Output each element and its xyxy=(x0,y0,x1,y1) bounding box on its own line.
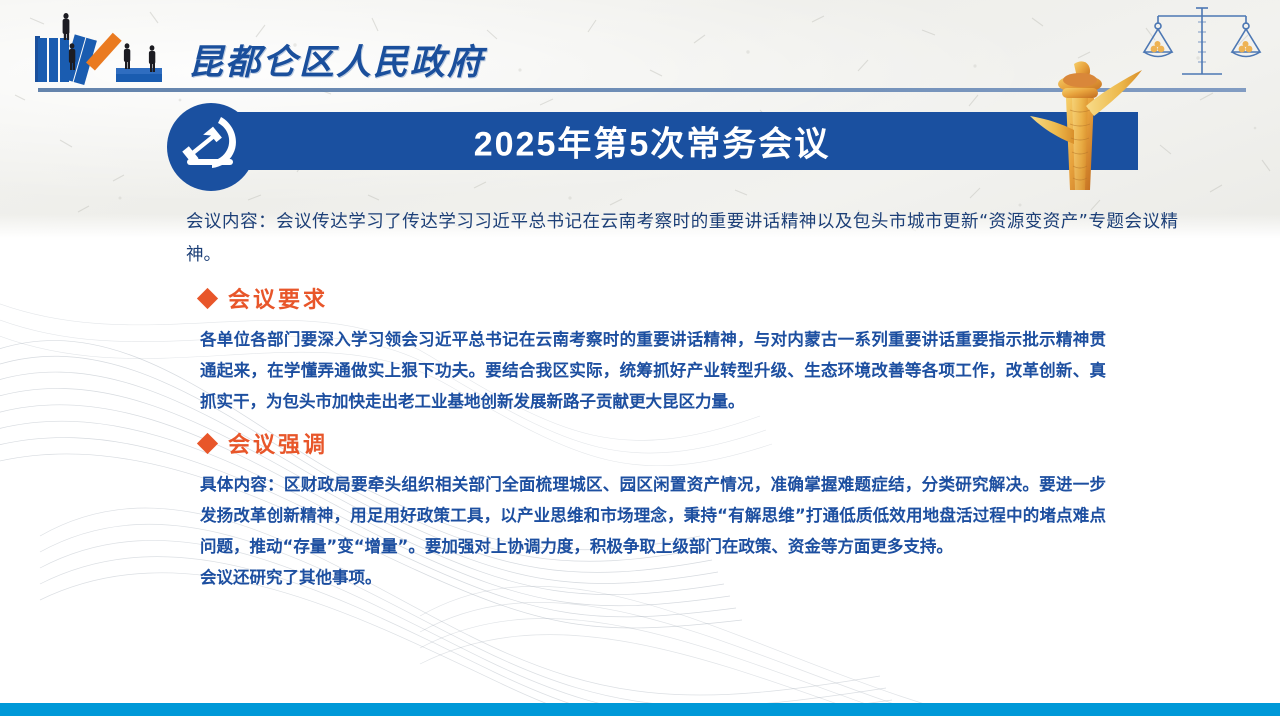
government-books-logo xyxy=(34,8,184,90)
section-header: 会议强调 xyxy=(200,427,1178,459)
org-name-title: 昆都仑区人民政府 xyxy=(188,34,484,85)
meeting-title-bar: 2025年第5次常务会议 xyxy=(214,112,1138,170)
section-title: 会议要求 xyxy=(228,282,328,314)
orange-diamond-bullet-icon xyxy=(197,432,218,453)
page-title: 2025年第5次常务会议 xyxy=(214,117,1138,166)
section-header: 会议要求 xyxy=(200,282,1178,314)
ornamental-pillar-icon xyxy=(1030,58,1150,190)
section-paragraph-closing: 会议还研究了其他事项。 xyxy=(200,562,1106,593)
section-meeting-emphasis: 会议强调 具体内容：区财政局要牵头组织相关部门全面梳理城区、园区闲置资产情况，准… xyxy=(186,427,1178,593)
section-paragraph: 各单位各部门要深入学习领会习近平总书记在云南考察时的重要讲话精神，与对内蒙古一系… xyxy=(200,324,1106,417)
section-meeting-requirements: 会议要求 各单位各部门要深入学习领会习近平总书记在云南考察时的重要讲话精神，与对… xyxy=(186,282,1178,417)
presentation-slide: 昆都仑区人民政府 xyxy=(0,0,1280,716)
section-title: 会议强调 xyxy=(228,427,328,459)
orange-diamond-bullet-icon xyxy=(197,287,218,308)
bottom-accent-bar xyxy=(0,703,1280,716)
scales-of-justice-icon xyxy=(1142,2,1262,86)
party-hammer-sickle-emblem xyxy=(167,103,255,191)
section-paragraph: 具体内容：区财政局要牵头组织相关部门全面梳理城区、园区闲置资产情况，准确掌握难题… xyxy=(200,469,1106,562)
meeting-intro-paragraph: 会议内容：会议传达学习了传达学习习近平总书记在云南考察时的重要讲话精神以及包头市… xyxy=(186,206,1178,272)
meeting-content: 会议内容：会议传达学习了传达学习习近平总书记在云南考察时的重要讲话精神以及包头市… xyxy=(186,206,1178,593)
